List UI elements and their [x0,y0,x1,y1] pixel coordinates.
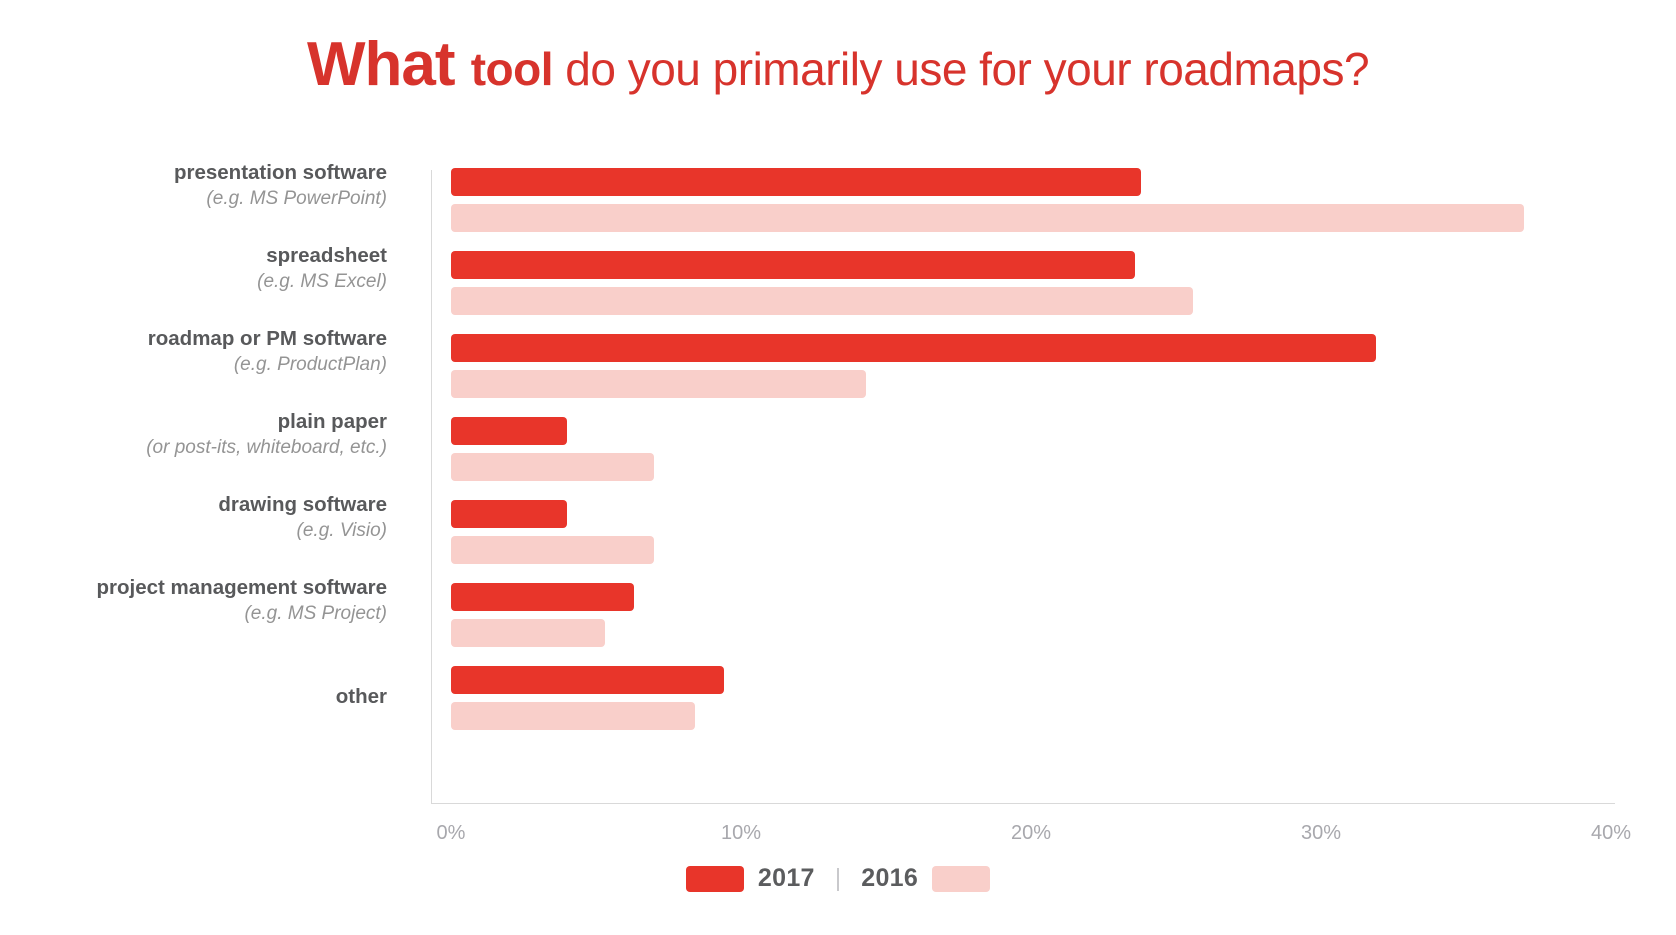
bar-2016 [451,287,1193,315]
category-sublabel: (e.g. MS Project) [11,601,387,626]
x-tick-label: 10% [721,822,761,845]
category-label-group: project management software(e.g. MS Proj… [11,575,431,626]
x-axis-line [431,803,1615,804]
bar-2017 [451,583,634,611]
legend-label-2017: 2017 [758,864,815,893]
bar-row: presentation software(e.g. MS PowerPoint… [0,160,1676,242]
x-tick-label: 30% [1301,822,1341,845]
category-label: other [11,684,387,710]
category-label-group: drawing software(e.g. Visio) [11,492,431,543]
chart-page: What tool do you primarily use for your … [0,0,1676,935]
bar-2017 [451,168,1141,196]
x-axis-ticks: 0%10%20%30%40% [0,822,1676,852]
bar-row: other [0,658,1676,740]
legend-label-2016: 2016 [861,864,918,893]
bar-2017 [451,417,567,445]
bar-row: spreadsheet(e.g. MS Excel) [0,243,1676,325]
chart-plot-area: presentation software(e.g. MS PowerPoint… [0,160,1676,810]
x-tick-label: 0% [437,822,466,845]
bar-group [451,666,1651,738]
category-label: project management software [11,575,387,601]
title-part-what: What [307,30,471,99]
category-label-group: other [11,658,431,710]
bar-group [451,168,1651,240]
category-label-group: spreadsheet(e.g. MS Excel) [11,243,431,294]
bar-group [451,334,1651,406]
bar-2016 [451,453,654,481]
bar-2016 [451,370,866,398]
bar-2017 [451,251,1135,279]
title-part-rest: do you primarily use for your roadmaps? [565,43,1369,95]
bar-row: plain paper(or post-its, whiteboard, etc… [0,409,1676,491]
legend-swatch-2017 [686,866,744,892]
bar-2017 [451,666,724,694]
bar-2016 [451,702,695,730]
category-label: roadmap or PM software [11,326,387,352]
bar-2017 [451,500,567,528]
category-sublabel: (e.g. MS Excel) [11,269,387,294]
bar-2017 [451,334,1376,362]
bar-row: roadmap or PM software(e.g. ProductPlan) [0,326,1676,408]
category-label: presentation software [11,160,387,186]
bar-group [451,583,1651,655]
category-label: spreadsheet [11,243,387,269]
x-tick-label: 20% [1011,822,1051,845]
category-label: drawing software [11,492,387,518]
bar-rows: presentation software(e.g. MS PowerPoint… [0,160,1676,741]
bar-group [451,417,1651,489]
title-part-tool: tool [471,43,566,95]
bar-2016 [451,204,1524,232]
category-sublabel: (e.g. Visio) [11,518,387,543]
category-sublabel: (e.g. MS PowerPoint) [11,186,387,211]
category-sublabel: (e.g. ProductPlan) [11,352,387,377]
bar-row: drawing software(e.g. Visio) [0,492,1676,574]
bar-2016 [451,536,654,564]
bar-row: project management software(e.g. MS Proj… [0,575,1676,657]
chart-legend: 2017 | 2016 [0,864,1676,893]
bar-2016 [451,619,605,647]
bar-group [451,251,1651,323]
category-label-group: plain paper(or post-its, whiteboard, etc… [11,409,431,460]
legend-separator: | [829,864,848,893]
category-label: plain paper [11,409,387,435]
bar-group [451,500,1651,572]
page-title: What tool do you primarily use for your … [0,34,1676,96]
category-label-group: roadmap or PM software(e.g. ProductPlan) [11,326,431,377]
category-label-group: presentation software(e.g. MS PowerPoint… [11,160,431,211]
x-tick-label: 40% [1591,822,1631,845]
category-sublabel: (or post-its, whiteboard, etc.) [11,435,387,460]
legend-swatch-2016 [932,866,990,892]
